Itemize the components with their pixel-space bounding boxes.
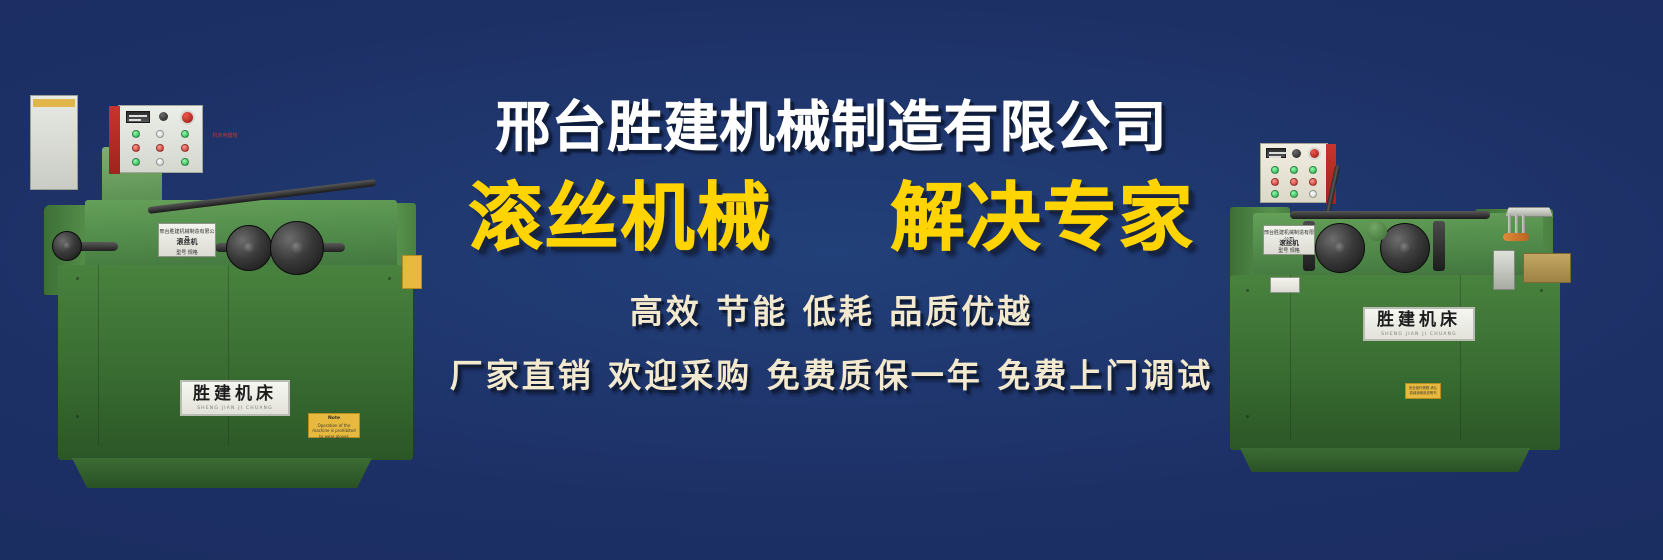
indicator-lamp-icon	[181, 130, 189, 138]
indicator-lamp-icon	[181, 158, 189, 166]
warning-body: 安全操作规程 请认真阅读使用说明书	[1408, 386, 1438, 395]
roller-die-icon	[1380, 223, 1430, 273]
indicator-lamp-icon	[156, 144, 164, 152]
lamp-row-1	[124, 130, 197, 138]
spec-plate-right: 邢台胜建机械制造有限公司 滚丝机 型号 规格	[1263, 225, 1315, 255]
lamp-row-2	[124, 144, 197, 152]
indicator-lamp-icon	[1290, 190, 1298, 198]
subtitle-line-2: 厂家直销 欢迎采购 免费质保一年 免费上门调试	[450, 349, 1213, 397]
roller-die-icon	[270, 221, 324, 275]
selector-knob-icon	[159, 112, 168, 121]
indicator-lamp-icon	[132, 130, 140, 138]
adjust-knob-icon	[1367, 221, 1387, 241]
indicator-lamp-icon	[1271, 166, 1279, 174]
selector-knob-icon	[1292, 149, 1301, 158]
roller-die-icon	[52, 231, 82, 261]
spec-plate-model: 滚丝机	[159, 237, 215, 247]
brand-nameplate-left: 胜建机床 SHENG JIAN JI CHUANG	[180, 380, 290, 416]
subtitle-line-1: 高效 节能 低耗 品质优越	[630, 285, 1033, 333]
display-meter-icon	[126, 111, 150, 123]
indicator-lamp-icon	[156, 130, 164, 138]
feed-bar-icon	[1290, 211, 1490, 219]
machine-image-left: 邢台胜建机械制造有限公司 滚丝机 型号 规格 胜建机床 SHENG JIAN J…	[30, 95, 420, 495]
headline-right: 解决专家	[891, 181, 1195, 255]
company-name: 邢台胜建机械制造有限公司	[495, 100, 1167, 155]
indicator-lamp-icon	[181, 144, 189, 152]
display-meter-icon	[1266, 148, 1286, 158]
warning-label-left: Note Operation of the machine is prohibi…	[308, 413, 360, 438]
lamp-row-3	[1266, 190, 1322, 198]
roller-die-icon	[1315, 223, 1365, 273]
indicator-lamp-icon	[1290, 178, 1298, 186]
side-warning-label-left	[402, 255, 422, 289]
electrical-cabinet-left: 机床电器箱	[30, 95, 78, 190]
control-panel-right	[1260, 143, 1328, 203]
cabinet-strip	[33, 99, 75, 107]
control-panel-left	[118, 105, 203, 173]
nozzle-manifold-icon	[1503, 233, 1529, 241]
emergency-stop-icon	[180, 110, 195, 125]
spec-plate-detail: 型号 规格	[159, 249, 215, 256]
indicator-lamp-icon	[156, 158, 164, 166]
indicator-lamp-icon	[1309, 178, 1317, 186]
warning-body: Operation of the machine is prohibited t…	[311, 423, 357, 439]
brass-info-plate-right	[1523, 253, 1571, 283]
indicator-lamp-icon	[132, 144, 140, 152]
roller-guide-icon	[1433, 221, 1445, 271]
indicator-lamp-icon	[1309, 166, 1317, 174]
lamp-row-3	[124, 158, 197, 166]
side-mechanism-icon	[1493, 250, 1515, 290]
headline: 滚丝机械 解决专家	[469, 181, 1195, 255]
lamp-row-2	[1266, 178, 1322, 186]
promotional-banner: 邢台胜建机械制造有限公司 滚丝机 型号 规格 胜建机床 SHENG JIAN J…	[0, 0, 1663, 560]
machine-base-right	[1230, 275, 1560, 450]
machine-image-right: 邢台胜建机械制造有限公司 滚丝机 型号 规格 胜建机床 SHENG JIAN J…	[1175, 125, 1575, 470]
spec-plate-detail: 型号 规格	[1264, 247, 1314, 254]
coolant-tray-icon	[1505, 207, 1553, 217]
lamp-row-1	[1266, 166, 1322, 174]
roller-die-icon	[226, 225, 272, 271]
brand-name-cn: 胜建机床	[193, 386, 277, 403]
brand-name-pinyin: SHENG JIAN JI CHUANG	[1381, 332, 1457, 337]
indicator-lamp-icon	[1271, 178, 1279, 186]
warning-label-right: 安全操作规程 请认真阅读使用说明书	[1405, 383, 1441, 399]
spec-plate-left: 邢台胜建机械制造有限公司 滚丝机 型号 规格	[158, 223, 216, 257]
brand-name-cn: 胜建机床	[1377, 312, 1461, 329]
small-plate-right	[1270, 277, 1300, 293]
indicator-lamp-icon	[1290, 166, 1298, 174]
brand-name-pinyin: SHENG JIAN JI CHUANG	[197, 406, 273, 411]
indicator-lamp-icon	[1271, 190, 1279, 198]
warning-title: Note	[309, 416, 359, 421]
spec-plate-model: 滚丝机	[1264, 237, 1314, 247]
indicator-lamp-icon	[132, 158, 140, 166]
cabinet-label: 机床电器箱	[30, 133, 420, 141]
indicator-lamp-icon	[1309, 190, 1317, 198]
emergency-stop-icon	[1308, 147, 1321, 160]
headline-left: 滚丝机械	[469, 181, 773, 255]
brand-nameplate-right: 胜建机床 SHENG JIAN JI CHUANG	[1363, 307, 1475, 341]
panel-red-side-left	[109, 106, 120, 174]
